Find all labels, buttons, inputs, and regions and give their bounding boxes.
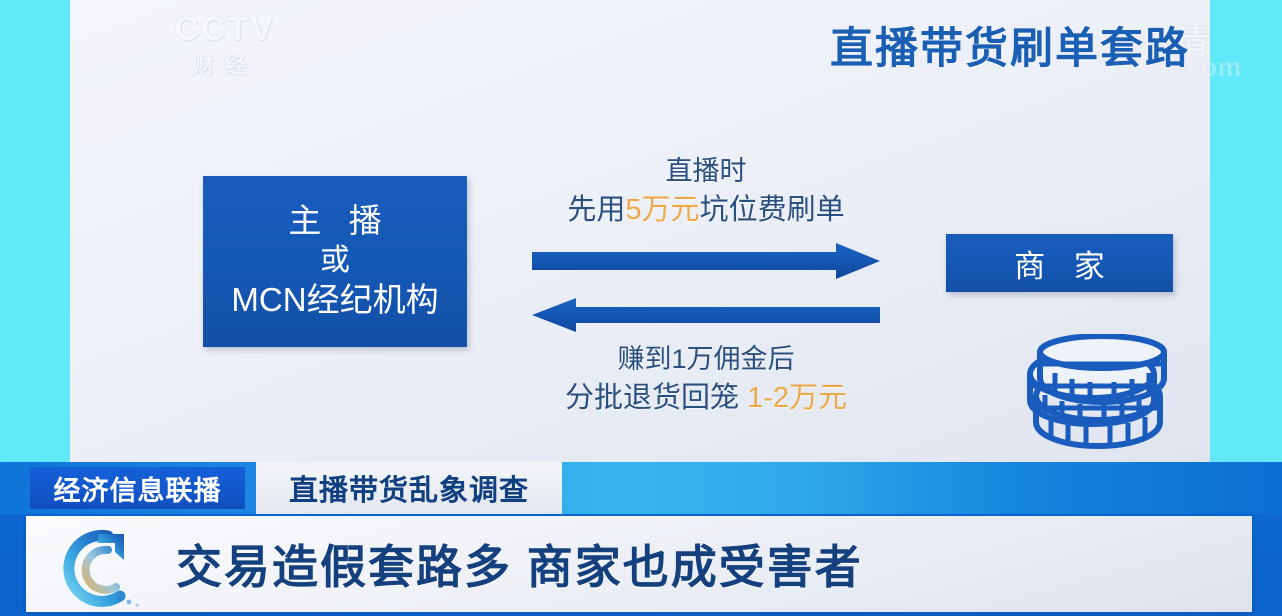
arrow-left-icon	[532, 298, 880, 337]
actor-left-line-3: MCN经纪机构	[231, 280, 438, 320]
actor-box-merchant: 商 家	[946, 234, 1173, 292]
infographic-panel: CCTV 财经 清 om 直播带货刷单套路 主 播 或 MCN经纪机构 商 家	[70, 0, 1210, 462]
flow-forward-pre: 先用	[567, 194, 625, 226]
topic-tag-label: 直播带货乱象调查	[289, 467, 529, 509]
actor-right-line-1: 商 家	[1004, 241, 1115, 286]
headline-title: 交易造假套路多 商家也成受害者	[176, 531, 863, 597]
actor-left-line-2: 或	[320, 241, 350, 280]
flow-forward-post: 坑位费刷单	[700, 194, 845, 226]
flow-caption-backward-line-1: 赚到1万佣金后	[532, 340, 880, 378]
broadcast-screenshot: CCTV 财经 清 om 直播带货刷单套路 主 播 或 MCN经纪机构 商 家	[0, 0, 1282, 616]
flow-caption-forward-line-1: 直播时	[532, 152, 880, 190]
arrow-right-icon	[532, 243, 880, 284]
program-tag: 经济信息联播	[30, 467, 245, 509]
infographic-title: 直播带货刷单套路	[830, 14, 1190, 76]
channel-swoosh-icon	[58, 526, 148, 610]
headline-bar: 交易造假套路多 商家也成受害者	[26, 516, 1252, 612]
flow-forward-amount: 5万元	[625, 194, 699, 226]
topic-tag: 直播带货乱象调查	[256, 462, 562, 514]
flow-caption-forward: 直播时 先用5万元坑位费刷单	[532, 152, 880, 232]
cctv-wordmark: CCTV	[142, 10, 307, 49]
flow-caption-forward-line-2: 先用5万元坑位费刷单	[532, 190, 880, 231]
flow-caption-backward-line-2: 分批退货回笼 1-2万元	[532, 378, 880, 419]
actor-box-anchor-or-mcn: 主 播 或 MCN经纪机构	[203, 176, 467, 347]
cctv-logo-icon: CCTV 财经	[142, 8, 307, 84]
lower-third-banner: 经济信息联播 直播带货乱象调查	[0, 462, 1282, 514]
coin-stack-icon	[1018, 334, 1178, 456]
actor-left-line-1: 主 播	[279, 202, 390, 241]
infographic-stage: CCTV 财经 清 om 直播带货刷单套路 主 播 或 MCN经纪机构 商 家	[0, 0, 1282, 462]
flow-caption-backward: 赚到1万佣金后 分批退货回笼 1-2万元	[532, 340, 880, 420]
flow-backward-amount: 1-2万元	[747, 382, 847, 414]
flow-backward-pre: 分批退货回笼	[565, 382, 747, 414]
program-tag-label: 经济信息联播	[54, 469, 222, 508]
cctv-subtitle: 财经	[142, 48, 307, 80]
cyan-right-edge	[1210, 0, 1282, 462]
cyan-left-edge	[0, 0, 70, 462]
